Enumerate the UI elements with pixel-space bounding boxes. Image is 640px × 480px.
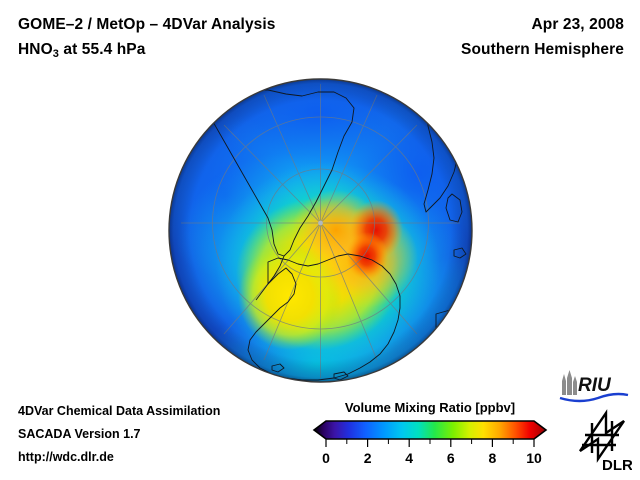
svg-text:2: 2	[364, 450, 372, 466]
riu-logo-text: RIU	[578, 375, 612, 396]
header-right: Apr 23, 2008 Southern Hemisphere	[294, 12, 624, 62]
dlr-pinwheel-icon	[580, 413, 624, 459]
dlr-logo-mark: DLR	[572, 409, 632, 471]
colorbar-ticks	[326, 439, 534, 447]
species-suffix: at 55.4 hPa	[59, 41, 146, 58]
species-prefix: HNO	[18, 41, 53, 58]
riu-logo-mark: RIU	[558, 369, 630, 403]
colorbar-tick-labels: 0246810	[322, 450, 542, 466]
footer-assimilation-label: 4DVar Chemical Data Assimilation	[18, 400, 318, 423]
footer-url-link[interactable]: http://wdc.dlr.de	[18, 446, 318, 469]
dlr-logo: DLR	[572, 409, 632, 471]
colorbar: Volume Mixing Ratio [ppbv] 0246810	[312, 400, 548, 471]
date-label: Apr 23, 2008	[294, 12, 624, 37]
colorbar-scale: 0246810	[312, 419, 548, 471]
region-label: Southern Hemisphere	[294, 37, 624, 62]
dlr-logo-text: DLR	[602, 457, 632, 471]
colorbar-title: Volume Mixing Ratio [ppbv]	[312, 400, 548, 415]
footer-version-label: SACADA Version 1.7	[18, 423, 318, 446]
svg-text:0: 0	[322, 450, 330, 466]
riu-towers-icon	[562, 370, 577, 395]
svg-text:4: 4	[405, 450, 413, 466]
globe-map	[168, 78, 473, 383]
colorbar-gradient	[314, 421, 546, 439]
svg-text:8: 8	[489, 450, 497, 466]
orthographic-projection	[168, 78, 473, 383]
limb-shading	[169, 79, 472, 382]
svg-text:10: 10	[526, 450, 542, 466]
svg-text:6: 6	[447, 450, 455, 466]
footer-left: 4DVar Chemical Data Assimilation SACADA …	[18, 400, 318, 469]
riu-logo: RIU	[558, 369, 630, 403]
